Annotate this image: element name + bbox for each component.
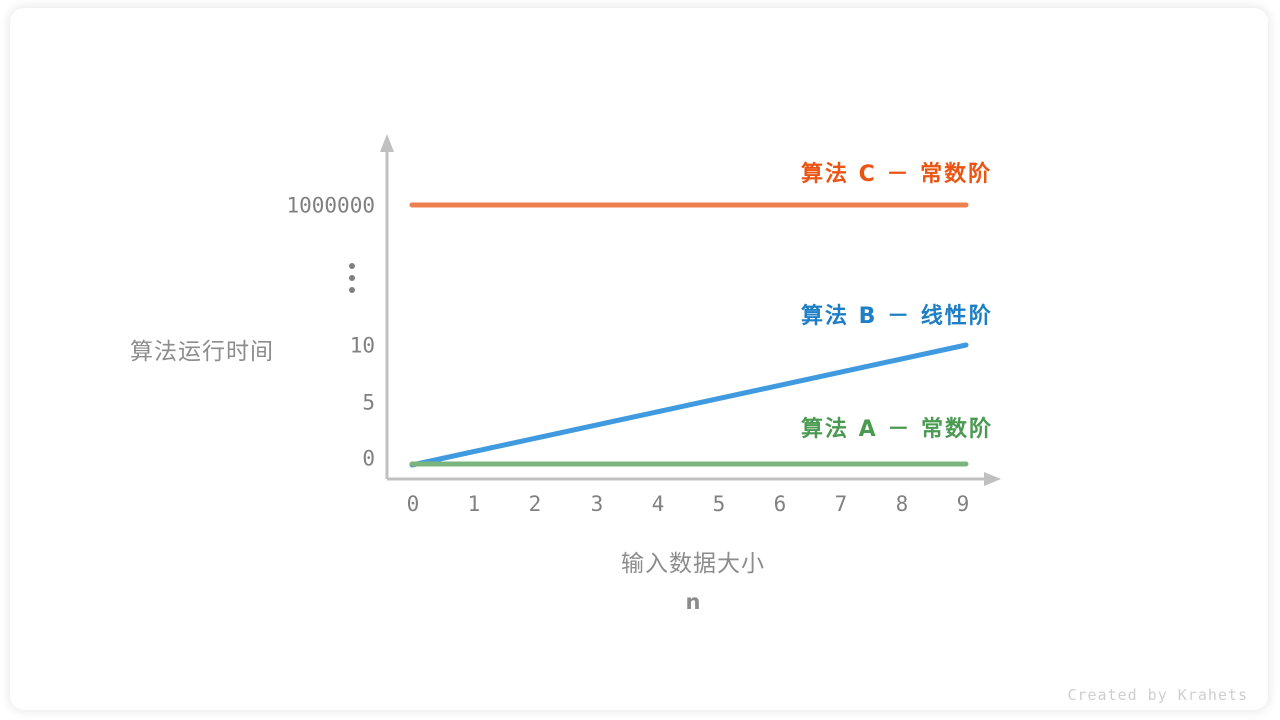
- y-tick-label-0: 0: [240, 449, 375, 470]
- chart-plot-area: 1000000 10 5 0 0 1 2 3 4 5 6 7 8 9 算法运行时…: [0, 0, 1280, 720]
- x-axis-arrowhead: [984, 472, 1001, 486]
- x-tick-label-8: 8: [896, 494, 909, 515]
- x-tick-label-0: 0: [407, 494, 420, 515]
- x-tick-label-2: 2: [529, 494, 542, 515]
- x-axis-title: 输入数据大小: [621, 544, 765, 578]
- series-label-b: 算法 B － 线性阶: [801, 298, 993, 330]
- x-tick-label-6: 6: [774, 494, 787, 515]
- x-tick-label-7: 7: [835, 494, 848, 515]
- x-tick-label-1: 1: [468, 494, 481, 515]
- y-axis-break-ellipsis-icon: [346, 263, 358, 293]
- x-tick-label-3: 3: [591, 494, 604, 515]
- x-tick-label-5: 5: [713, 494, 726, 515]
- x-axis-title-group: 输入数据大小 n: [621, 544, 765, 614]
- screenshot-root: 1000000 10 5 0 0 1 2 3 4 5 6 7 8 9 算法运行时…: [0, 0, 1280, 720]
- y-tick-label-1000000: 1000000: [240, 196, 375, 217]
- y-axis-title: 算法运行时间: [130, 332, 274, 366]
- x-axis-variable: n: [621, 590, 765, 614]
- series-line-b: [412, 345, 966, 465]
- series-label-c: 算法 C － 常数阶: [801, 156, 992, 188]
- y-axis-arrowhead: [380, 134, 394, 152]
- credit-text: Created by Krahets: [1067, 686, 1248, 704]
- series-label-a: 算法 A － 常数阶: [801, 411, 993, 443]
- x-tick-label-9: 9: [957, 494, 970, 515]
- y-tick-label-5: 5: [240, 393, 375, 414]
- x-tick-label-4: 4: [652, 494, 665, 515]
